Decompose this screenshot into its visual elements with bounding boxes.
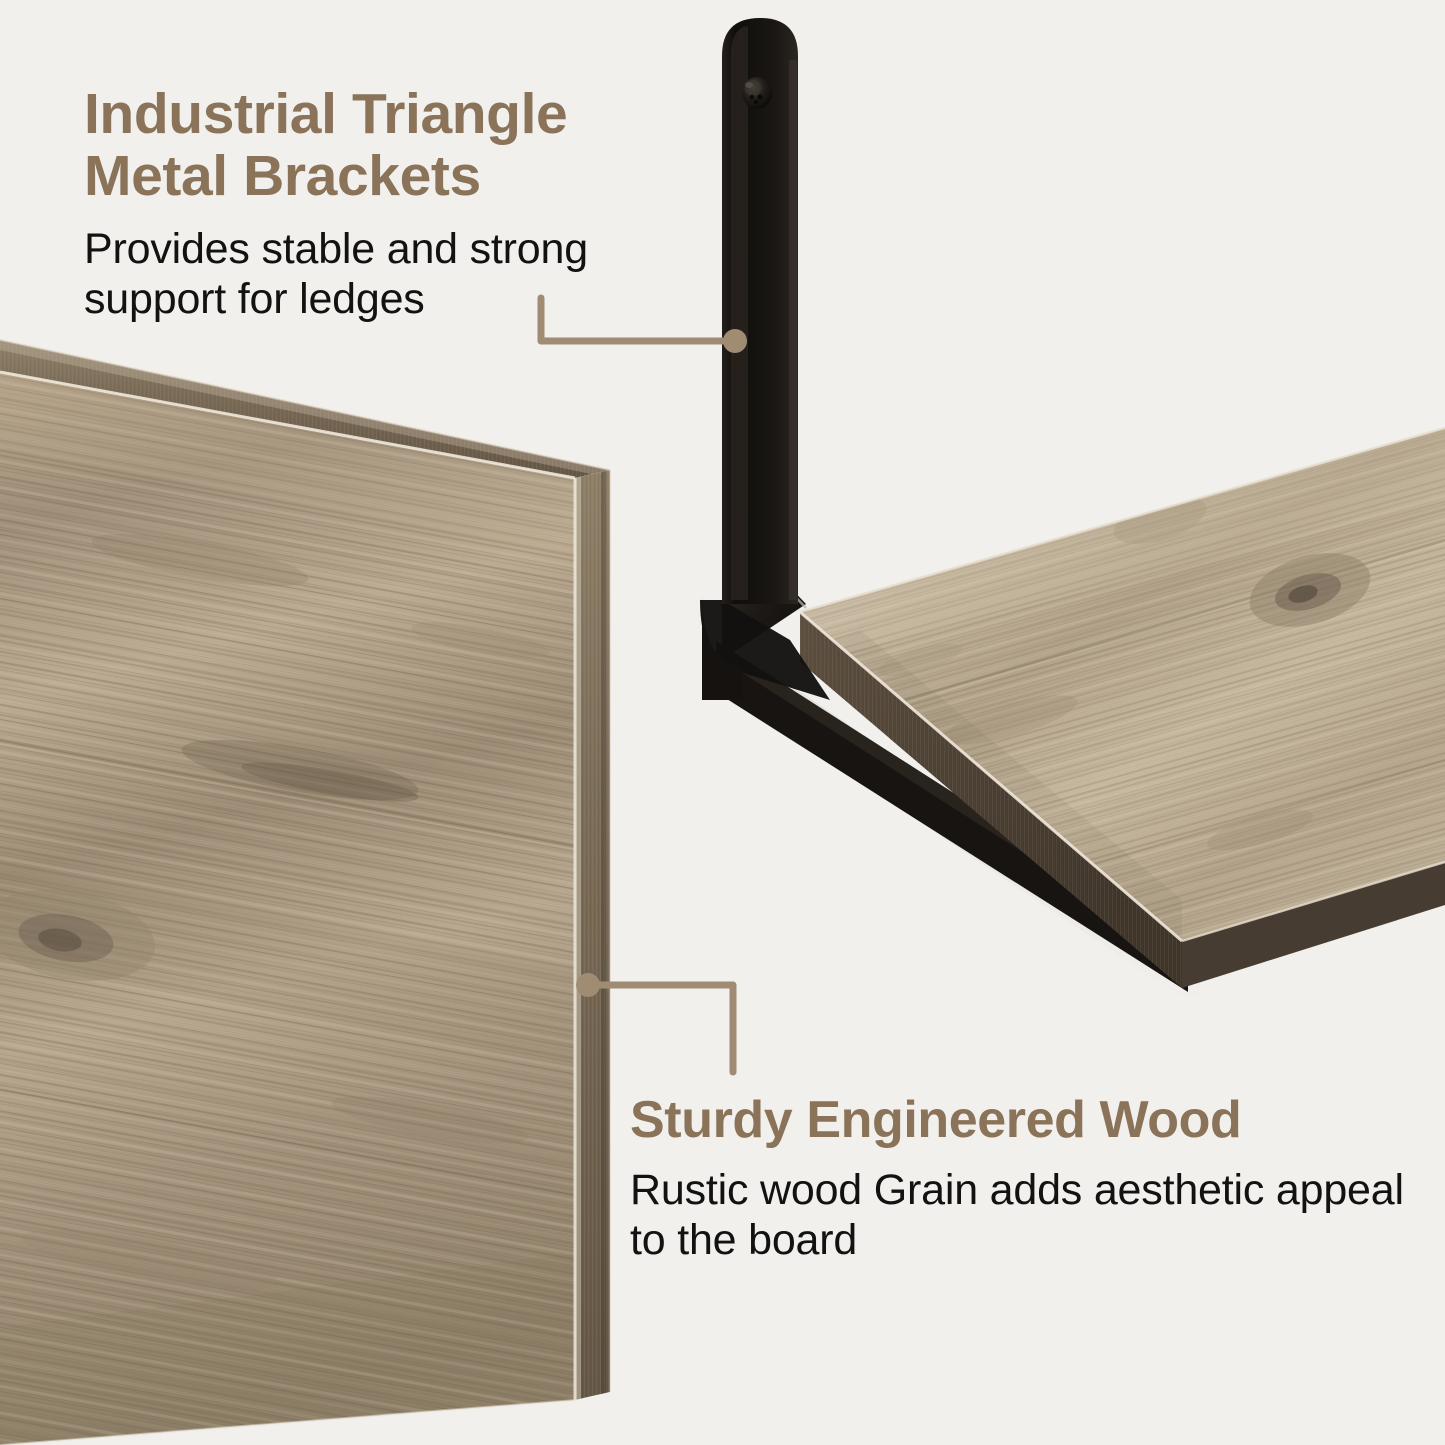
- callout-title-brackets: Industrial Triangle Metal Brackets: [84, 84, 724, 207]
- front-wood-board: [0, 330, 640, 1445]
- callout-sturdy-engineered-wood: Sturdy Engineered Wood Rustic wood Grain…: [630, 1092, 1420, 1266]
- screw-head-icon: [742, 77, 772, 109]
- callout-dot-icon-brackets: [723, 329, 747, 353]
- front-board-face: [0, 330, 640, 1445]
- bracket-arm-sheen: [731, 26, 748, 600]
- callout-title-wood: Sturdy Engineered Wood: [630, 1092, 1420, 1148]
- callout-subtitle-wood: Rustic wood Grain adds aesthetic appeal …: [630, 1166, 1420, 1266]
- callout-dot-icon-wood: [576, 973, 600, 997]
- product-feature-image: Industrial Triangle Metal Brackets Provi…: [0, 0, 1445, 1445]
- bracket-arm-right-sheen: [789, 60, 797, 600]
- callout-subtitle-brackets: Provides stable and strong support for l…: [84, 225, 724, 325]
- callout-industrial-triangle-metal-brackets: Industrial Triangle Metal Brackets Provi…: [84, 84, 724, 325]
